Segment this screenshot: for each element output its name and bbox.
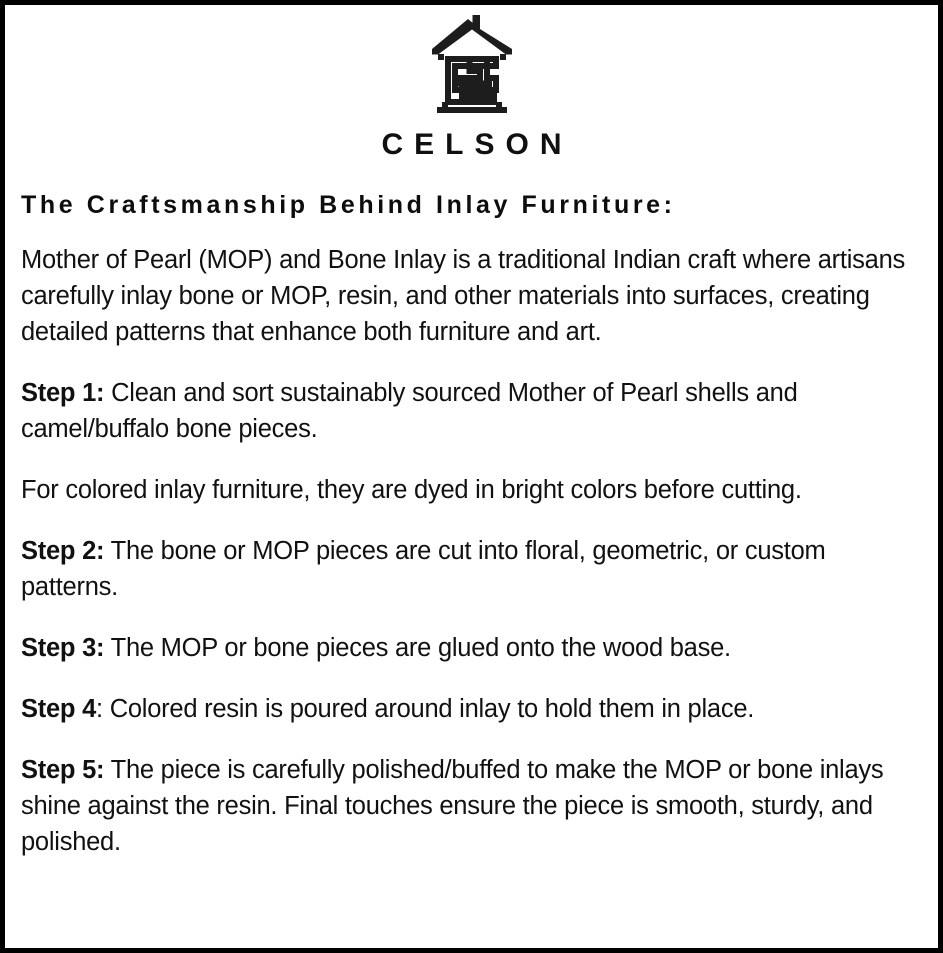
brand-wordmark: CELSON [16,130,927,160]
paragraph-text: For colored inlay furniture, they are dy… [21,476,802,504]
paragraph-text: The piece is carefully polished/buffed t… [21,756,883,856]
body-copy: Mother of Pearl (MOP) and Bone Inlay is … [21,220,927,860]
paragraph-step-5: Step 5: The piece is carefully polished/… [21,752,911,860]
document-content: CELSON The Craftsmanship Behind Inlay Fu… [5,5,938,948]
paragraph-step-3: Step 3: The MOP or bone pieces are glued… [21,630,911,666]
paragraph-text: : Colored resin is poured around inlay t… [96,695,754,723]
paragraph-text: The bone or MOP pieces are cut into flor… [21,537,826,601]
paragraph-step-4: Step 4: Colored resin is poured around i… [21,691,911,727]
paragraph-lead: Step 2: [21,537,104,565]
paragraph-lead: Step 3: [21,634,104,662]
brand-block: CELSON [16,5,927,160]
paragraph-lead: Step 1: [21,379,104,407]
house-monogram-logo-icon [424,13,520,116]
paragraph-lead: Step 4 [21,695,96,723]
paragraph-text: The MOP or bone pieces are glued onto th… [104,634,731,662]
paragraph-text: Mother of Pearl (MOP) and Bone Inlay is … [21,246,905,346]
paragraph-lead: Step 5: [21,756,104,784]
page-title: The Craftsmanship Behind Inlay Furniture… [21,190,927,220]
document-page: CELSON The Craftsmanship Behind Inlay Fu… [0,0,943,953]
paragraph-step-2: Step 2: The bone or MOP pieces are cut i… [21,533,911,605]
paragraph-text: Clean and sort sustainably sourced Mothe… [21,379,798,443]
paragraph-step-1: Step 1: Clean and sort sustainably sourc… [21,375,911,447]
paragraph-dye-note: For colored inlay furniture, they are dy… [21,472,911,508]
paragraph-intro: Mother of Pearl (MOP) and Bone Inlay is … [21,242,911,350]
